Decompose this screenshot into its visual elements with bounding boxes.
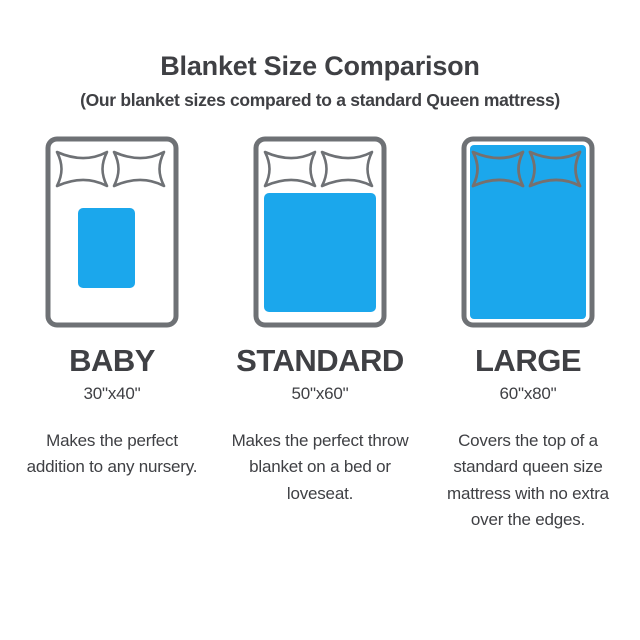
- size-description-large: Covers the top of a standard queen size …: [433, 428, 623, 533]
- size-description-baby: Makes the perfect addition to any nurser…: [17, 428, 207, 481]
- size-dimensions-baby: 30"x40": [84, 385, 141, 402]
- size-description-standard: Makes the perfect throw blanket on a bed…: [225, 428, 415, 507]
- comparison-columns: BABY 30"x40" Makes the perfect addition …: [0, 136, 640, 533]
- bed-diagram-large: [461, 136, 595, 328]
- column-baby: BABY 30"x40" Makes the perfect addition …: [14, 136, 210, 533]
- column-large: LARGE 60"x80" Covers the top of a standa…: [430, 136, 626, 533]
- column-standard: STANDARD 50"x60" Makes the perfect throw…: [222, 136, 418, 533]
- pillow-icon: [322, 152, 372, 186]
- header: Blanket Size Comparison (Our blanket siz…: [0, 0, 640, 110]
- bed-diagram-standard: [253, 136, 387, 328]
- bed-illustration-baby: [45, 136, 179, 331]
- page-title: Blanket Size Comparison: [0, 52, 640, 82]
- pillow-icon: [57, 152, 107, 186]
- pillow-icon: [265, 152, 315, 186]
- blanket-size-comparison-infographic: Blanket Size Comparison (Our blanket siz…: [0, 0, 640, 640]
- blanket-area-large: [470, 145, 586, 319]
- size-dimensions-large: 60"x80": [500, 385, 557, 402]
- pillow-icon: [114, 152, 164, 186]
- blanket-area-standard: [264, 193, 376, 312]
- blanket-area-baby: [78, 208, 135, 288]
- size-dimensions-standard: 50"x60": [292, 385, 349, 402]
- bed-diagram-baby: [45, 136, 179, 328]
- size-name-baby: BABY: [69, 345, 155, 376]
- page-subtitle: (Our blanket sizes compared to a standar…: [0, 91, 640, 110]
- size-name-large: LARGE: [475, 345, 581, 376]
- bed-illustration-standard: [253, 136, 387, 331]
- bed-illustration-large: [461, 136, 595, 331]
- size-name-standard: STANDARD: [236, 345, 404, 376]
